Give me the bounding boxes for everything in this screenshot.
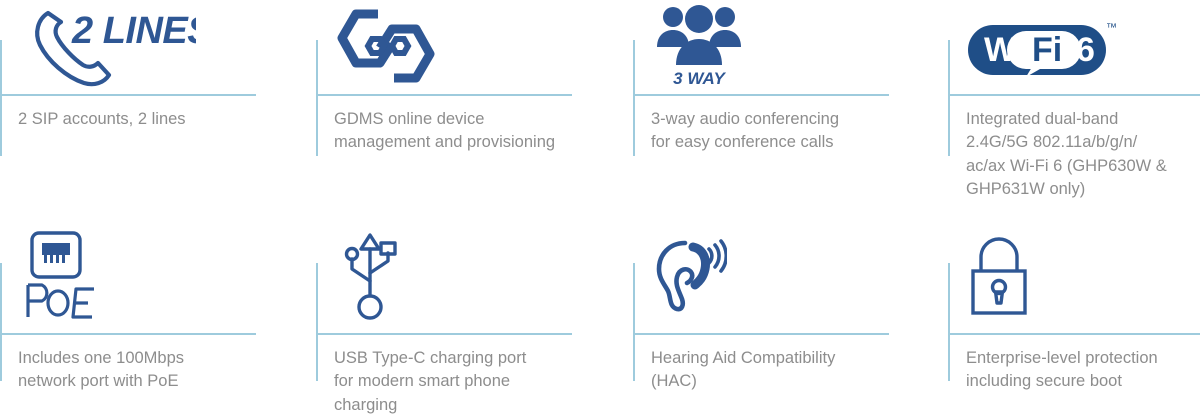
card-horizontal-divider — [633, 94, 889, 96]
feature-description: Integrated dual-band 2.4G/5G 802.11a/b/g… — [966, 108, 1196, 202]
card-vertical-rule — [633, 263, 635, 381]
icon-container: 3 WAY — [651, 0, 747, 92]
feature-description: Hearing Aid Compatibility (HAC) — [651, 347, 929, 394]
icon-container — [966, 225, 1032, 329]
feature-description: Includes one 100Mbps network port with P… — [18, 347, 296, 394]
icon-container — [651, 225, 727, 329]
feature-card-poe: Includes one 100Mbps network port with P… — [0, 225, 300, 413]
padlock-icon — [966, 235, 1032, 319]
feature-description: Enterprise-level protection including se… — [966, 347, 1196, 394]
card-horizontal-divider — [0, 333, 256, 335]
card-vertical-rule — [0, 40, 2, 156]
card-horizontal-divider — [948, 333, 1200, 335]
icon-container: 2 LINES — [18, 0, 196, 92]
card-vertical-rule — [316, 263, 318, 381]
feature-description: 2 SIP accounts, 2 lines — [18, 108, 296, 131]
wifi-6-badge-icon: Wi Fi 6 ™ — [966, 15, 1118, 77]
three-people-conference-icon: 3 WAY — [651, 5, 747, 87]
ethernet-poe-icon — [18, 229, 102, 325]
feature-card-security: Enterprise-level protection including se… — [948, 225, 1200, 413]
feature-card-wifi6: Wi Fi 6 ™ Integrated dual-band 2.4G/5G 8… — [948, 0, 1200, 213]
feature-grid: 2 LINES 2 SIP accounts, 2 lines GDMS onl… — [0, 0, 1200, 413]
gdms-hexagon-icon — [334, 6, 438, 86]
icon-container — [334, 0, 438, 92]
card-horizontal-divider — [316, 333, 572, 335]
wifi-text-six: 6 — [1076, 31, 1095, 69]
phone-handset-2-lines-icon: 2 LINES — [18, 3, 196, 89]
icon-caption: 3 WAY — [673, 69, 726, 87]
feature-card-gdms: GDMS online device management and provis… — [316, 0, 616, 213]
feature-card-hearing-aid: Hearing Aid Compatibility (HAC) — [633, 225, 933, 413]
wifi-text-fi: Fi — [1032, 31, 1062, 69]
svg-text:2 LINES: 2 LINES — [71, 10, 196, 52]
card-horizontal-divider — [316, 94, 572, 96]
feature-card-2-lines: 2 LINES 2 SIP accounts, 2 lines — [0, 0, 300, 213]
ear-hearing-aid-icon — [651, 239, 727, 315]
feature-description: USB Type-C charging port for modern smar… — [334, 347, 612, 417]
feature-description: 3-way audio conferencing for easy confer… — [651, 108, 929, 155]
icon-container: Wi Fi 6 ™ — [966, 0, 1118, 92]
card-vertical-rule — [633, 40, 635, 156]
usb-trident-icon — [334, 229, 406, 325]
feature-description: GDMS online device management and provis… — [334, 108, 612, 155]
feature-card-usb-type-c: USB Type-C charging port for modern smar… — [316, 225, 616, 413]
card-horizontal-divider — [0, 94, 256, 96]
card-vertical-rule — [0, 263, 2, 381]
trademark-mark: ™ — [1106, 22, 1117, 34]
icon-container — [18, 225, 102, 329]
card-vertical-rule — [948, 40, 950, 156]
feature-card-3-way: 3 WAY 3-way audio conferencing for easy … — [633, 0, 933, 213]
icon-container — [334, 225, 406, 329]
card-vertical-rule — [948, 263, 950, 381]
card-horizontal-divider — [948, 94, 1200, 96]
card-horizontal-divider — [633, 333, 889, 335]
card-vertical-rule — [316, 40, 318, 156]
